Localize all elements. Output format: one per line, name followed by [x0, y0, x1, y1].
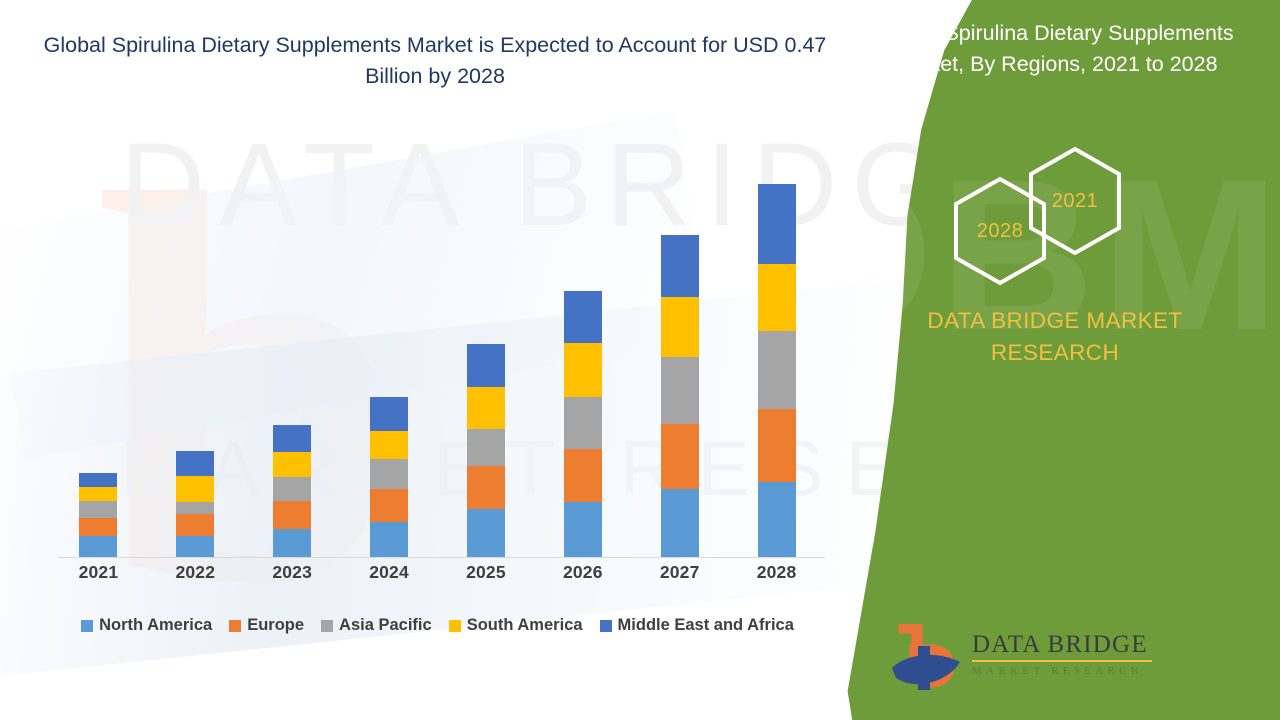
- chart-bars: [50, 150, 825, 557]
- bar-segment[interactable]: [564, 502, 602, 557]
- bar-segment[interactable]: [758, 409, 796, 482]
- legend-swatch-icon: [81, 620, 93, 632]
- stacked-bar-2023[interactable]: [273, 425, 311, 557]
- hex-2021-label: 2021: [1025, 145, 1125, 257]
- right-green-panel: DBMR Global Spirulina Dietary Supplement…: [820, 0, 1280, 720]
- bar-segment[interactable]: [467, 429, 505, 466]
- bar-slot: [147, 150, 244, 557]
- legend-label: Europe: [247, 616, 304, 635]
- x-axis-labels: 20212022202320242025202620272028: [50, 562, 825, 583]
- bar-slot: [534, 150, 631, 557]
- bar-slot: [244, 150, 341, 557]
- legend-item-2[interactable]: Asia Pacific: [321, 616, 432, 635]
- bar-segment[interactable]: [758, 331, 796, 409]
- bar-segment[interactable]: [370, 397, 408, 431]
- x-axis-label-2023: 2023: [244, 562, 341, 583]
- legend-label: North America: [99, 616, 212, 635]
- page-title: Global Spirulina Dietary Supplements Mar…: [40, 30, 830, 92]
- x-axis-label-2025: 2025: [438, 562, 535, 583]
- panel-brand-name: DATA BRIDGE MARKET RESEARCH: [880, 305, 1230, 369]
- bar-segment[interactable]: [79, 501, 117, 518]
- bar-segment[interactable]: [564, 343, 602, 397]
- bar-segment[interactable]: [176, 502, 214, 514]
- bar-segment[interactable]: [79, 473, 117, 487]
- bar-slot: [438, 150, 535, 557]
- x-axis-label-2021: 2021: [50, 562, 147, 583]
- bar-segment[interactable]: [176, 536, 214, 557]
- bar-segment[interactable]: [661, 489, 699, 557]
- bar-slot: [341, 150, 438, 557]
- bar-segment[interactable]: [467, 387, 505, 429]
- stacked-bar-2021[interactable]: [79, 473, 117, 557]
- logo-subtitle: MARKET RESEARCH: [972, 666, 1152, 677]
- bar-segment[interactable]: [79, 487, 117, 501]
- legend-label: South America: [467, 616, 583, 635]
- legend-item-1[interactable]: Europe: [229, 616, 304, 635]
- chart-legend: North AmericaEuropeAsia PacificSouth Ame…: [50, 616, 825, 635]
- x-axis-line: [58, 557, 825, 558]
- bar-slot: [728, 150, 825, 557]
- bar-segment[interactable]: [176, 476, 214, 502]
- x-axis-label-2028: 2028: [728, 562, 825, 583]
- bar-segment[interactable]: [564, 397, 602, 449]
- stacked-bar-2028[interactable]: [758, 184, 796, 557]
- legend-item-0[interactable]: North America: [81, 616, 212, 635]
- bar-segment[interactable]: [79, 518, 117, 536]
- bar-segment[interactable]: [661, 297, 699, 357]
- bar-segment[interactable]: [564, 291, 602, 343]
- bar-segment[interactable]: [273, 452, 311, 477]
- bar-segment[interactable]: [758, 184, 796, 264]
- bar-segment[interactable]: [370, 431, 408, 459]
- hexagon-group: 2028 2021: [940, 145, 1190, 290]
- stacked-bar-2022[interactable]: [176, 451, 214, 557]
- stacked-bar-2027[interactable]: [661, 235, 699, 557]
- bar-slot: [50, 150, 147, 557]
- logo-text-block: DATA BRIDGE MARKET RESEARCH: [972, 632, 1152, 677]
- stacked-bar-2024[interactable]: [370, 397, 408, 557]
- logo-divider: [972, 660, 1152, 662]
- legend-item-3[interactable]: South America: [449, 616, 583, 635]
- bar-segment[interactable]: [467, 466, 505, 509]
- bar-segment[interactable]: [370, 522, 408, 557]
- bar-segment[interactable]: [467, 509, 505, 557]
- bar-segment[interactable]: [467, 344, 505, 387]
- bar-slot: [631, 150, 728, 557]
- legend-swatch-icon: [321, 620, 333, 632]
- bar-segment[interactable]: [79, 536, 117, 557]
- x-axis-label-2024: 2024: [341, 562, 438, 583]
- logo-mark-icon: [888, 624, 966, 696]
- bar-segment[interactable]: [370, 459, 408, 489]
- panel-title: Global Spirulina Dietary Supplements Mar…: [875, 18, 1235, 81]
- legend-swatch-icon: [229, 620, 241, 632]
- chart-plot-area: [50, 150, 825, 558]
- bar-segment[interactable]: [758, 482, 796, 557]
- hex-2021: 2021: [1025, 145, 1125, 257]
- legend-swatch-icon: [449, 620, 461, 632]
- legend-label: Middle East and Africa: [618, 616, 794, 635]
- bar-segment[interactable]: [176, 451, 214, 476]
- x-axis-label-2022: 2022: [147, 562, 244, 583]
- bar-segment[interactable]: [661, 424, 699, 489]
- legend-label: Asia Pacific: [339, 616, 432, 635]
- stacked-bar-2026[interactable]: [564, 291, 602, 557]
- x-axis-label-2026: 2026: [534, 562, 631, 583]
- data-bridge-logo: DATA BRIDGE MARKET RESEARCH: [888, 622, 1148, 698]
- bar-segment[interactable]: [273, 529, 311, 557]
- bar-segment[interactable]: [758, 264, 796, 331]
- legend-item-4[interactable]: Middle East and Africa: [600, 616, 794, 635]
- bar-segment[interactable]: [273, 501, 311, 529]
- bar-segment[interactable]: [176, 514, 214, 536]
- bar-segment[interactable]: [564, 449, 602, 502]
- bar-segment[interactable]: [273, 425, 311, 452]
- stacked-bar-2025[interactable]: [467, 344, 505, 557]
- infographic-canvas: b DATA BRIDGE MARKET RESEARCH Global Spi…: [0, 0, 1280, 720]
- logo-title: DATA BRIDGE: [972, 632, 1152, 657]
- x-axis-label-2027: 2027: [631, 562, 728, 583]
- bar-segment[interactable]: [370, 489, 408, 522]
- bar-segment[interactable]: [661, 357, 699, 424]
- legend-swatch-icon: [600, 620, 612, 632]
- bar-segment[interactable]: [661, 235, 699, 297]
- bar-segment[interactable]: [273, 477, 311, 501]
- stacked-bar-chart: 20212022202320242025202620272028: [50, 150, 825, 560]
